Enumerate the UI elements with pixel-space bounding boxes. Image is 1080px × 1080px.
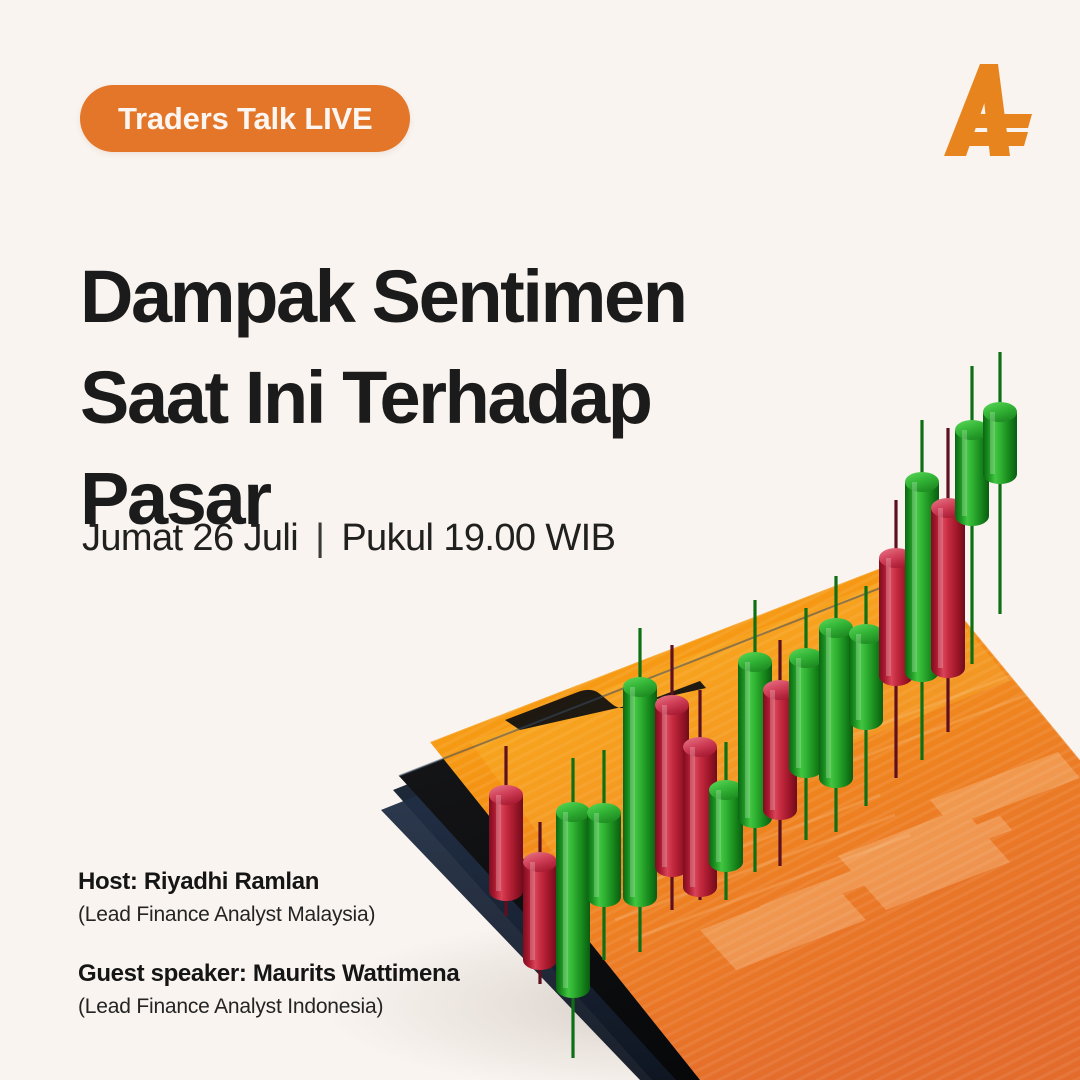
- guest-name: Guest speaker: Maurits Wattimena: [78, 958, 638, 990]
- live-badge: Traders Talk LIVE: [80, 85, 410, 152]
- credit-host: Host: Riyadhi Ramlan (Lead Finance Analy…: [78, 866, 638, 930]
- headline-line-1: Dampak Sentimen: [80, 246, 800, 347]
- guest-role: (Lead Finance Analyst Indonesia): [78, 992, 638, 1022]
- schedule-time: Pukul 19.00 WIB: [341, 517, 615, 559]
- live-badge-label: Traders Talk LIVE: [118, 101, 372, 137]
- credits-block: Host: Riyadhi Ramlan (Lead Finance Analy…: [78, 866, 638, 1022]
- poster-canvas: Traders Talk LIVE Dampak Sentimen Saat I…: [0, 0, 1080, 1080]
- headline-line-2: Saat Ini Terhadap: [80, 347, 800, 448]
- credit-guest: Guest speaker: Maurits Wattimena (Lead F…: [78, 958, 638, 1022]
- host-role: (Lead Finance Analyst Malaysia): [78, 900, 638, 930]
- schedule-date: Jumat 26 Juli: [82, 517, 298, 559]
- page-title: Dampak Sentimen Saat Ini Terhadap Pasar: [80, 246, 800, 549]
- schedule-line: Jumat 26 Juli | Pukul 19.00 WIB: [82, 517, 615, 560]
- brand-logo: [936, 58, 1038, 162]
- schedule-separator: |: [308, 517, 331, 560]
- a-logo-icon: [936, 58, 1038, 162]
- host-name: Host: Riyadhi Ramlan: [78, 866, 638, 898]
